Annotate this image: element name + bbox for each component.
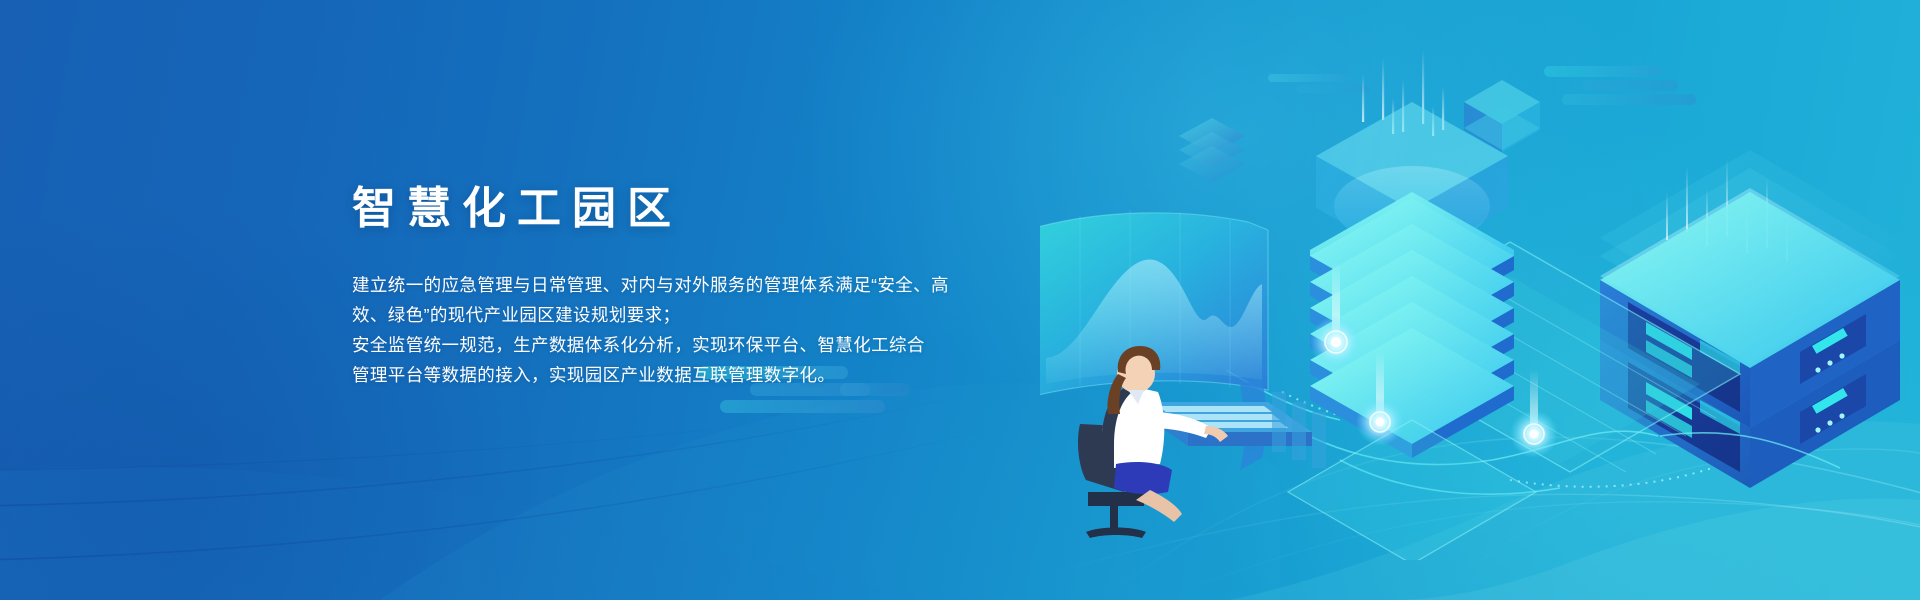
hero-banner: 智慧化工园区 建立统一的应急管理与日常管理、对内与对外服务的管理体系满足“安全、… xyxy=(0,0,1920,600)
description-line-2: 效、绿色”的现代产业园区建设规划要求； xyxy=(352,300,1112,330)
banner-description: 建立统一的应急管理与日常管理、对内与对外服务的管理体系满足“安全、高 效、绿色”… xyxy=(352,270,1112,390)
description-line-1: 建立统一的应急管理与日常管理、对内与对外服务的管理体系满足“安全、高 xyxy=(352,270,1112,300)
banner-copy: 智慧化工园区 建立统一的应急管理与日常管理、对内与对外服务的管理体系满足“安全、… xyxy=(352,182,1112,390)
floating-cube-small xyxy=(1179,118,1245,182)
description-line-4: 管理平台等数据的接入，实现园区产业数据互联管理数字化。 xyxy=(352,360,1112,390)
illustration-smart-park xyxy=(1040,40,1920,560)
description-line-3: 安全监管统一规范，生产数据体系化分析，实现环保平台、智慧化工综合 xyxy=(352,330,1112,360)
keyboard xyxy=(1144,392,1326,468)
page-title: 智慧化工园区 xyxy=(352,182,1112,236)
